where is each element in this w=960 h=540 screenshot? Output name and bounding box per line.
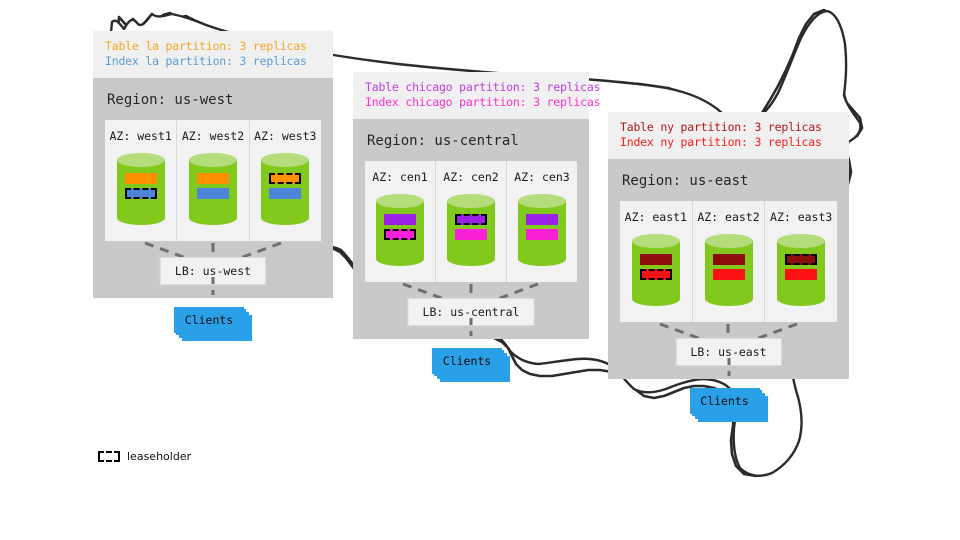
clients-box[interactable]: Clients <box>690 388 760 414</box>
database-cylinder-east1[interactable] <box>632 234 680 306</box>
clients-stack-us-east[interactable]: Clients <box>690 388 768 422</box>
az-label: AZ: west1 <box>105 129 176 143</box>
lb-clients-connector <box>724 356 734 378</box>
legend-label: leaseholder <box>127 450 191 463</box>
cylinder-top <box>632 234 680 248</box>
table-replica-bar-leaseholder <box>785 254 817 265</box>
index-replica-bar <box>785 269 817 280</box>
index-partition-label: Index la partition: 3 replicas <box>105 54 321 69</box>
partition-header-us-west: Table la partition: 3 replicas Index la … <box>93 31 333 78</box>
table-replica-bar <box>197 173 229 184</box>
cylinder-top <box>777 234 825 248</box>
index-replica-bar <box>455 229 487 240</box>
index-replica-bar <box>269 188 301 199</box>
database-cylinder-west3[interactable] <box>261 153 309 225</box>
cylinder-top <box>189 153 237 167</box>
region-body-us-central: Region: us-central AZ: cen1 AZ: cen2 <box>353 119 589 339</box>
replica-bars <box>447 214 495 244</box>
region-title: Region: us-west <box>93 78 333 120</box>
database-cylinder-cen2[interactable] <box>447 194 495 266</box>
table-partition-label: Table chicago partition: 3 replicas <box>365 80 577 95</box>
az-label: AZ: cen1 <box>365 170 435 184</box>
replica-bars <box>777 254 825 284</box>
replica-bars <box>261 173 309 203</box>
region-title: Region: us-east <box>608 159 849 201</box>
replica-bars <box>117 173 165 203</box>
lb-clients-connector <box>466 316 476 338</box>
table-replica-bar <box>640 254 672 265</box>
partition-header-us-central: Table chicago partition: 3 replicas Inde… <box>353 72 589 119</box>
replica-bars <box>189 173 237 203</box>
replica-bars <box>376 214 424 244</box>
table-replica-bar-leaseholder <box>269 173 301 184</box>
az-cell-west1[interactable]: AZ: west1 <box>105 120 177 241</box>
cylinder-top <box>261 153 309 167</box>
replica-bars <box>705 254 753 284</box>
database-cylinder-east3[interactable] <box>777 234 825 306</box>
az-row: AZ: west1 AZ: west2 <box>105 120 321 241</box>
replica-bars <box>632 254 680 284</box>
index-replica-bar-leaseholder <box>125 188 157 199</box>
clients-box[interactable]: Clients <box>432 348 502 374</box>
region-body-us-east: Region: us-east AZ: east1 AZ: east2 <box>608 159 849 379</box>
region-title: Region: us-central <box>353 119 589 161</box>
az-label: AZ: west3 <box>250 129 321 143</box>
az-cell-cen1[interactable]: AZ: cen1 <box>365 161 436 282</box>
clients-box[interactable]: Clients <box>174 307 244 333</box>
lb-clients-connector <box>208 275 218 297</box>
cylinder-top <box>518 194 566 208</box>
cylinder-top <box>447 194 495 208</box>
az-label: AZ: east2 <box>693 210 765 224</box>
az-row: AZ: cen1 AZ: cen2 <box>365 161 577 282</box>
table-replica-bar <box>384 214 416 225</box>
database-cylinder-cen3[interactable] <box>518 194 566 266</box>
region-panel-us-central: Table chicago partition: 3 replicas Inde… <box>353 72 589 339</box>
az-cell-cen2[interactable]: AZ: cen2 <box>436 161 507 282</box>
database-cylinder-cen1[interactable] <box>376 194 424 266</box>
az-cell-east2[interactable]: AZ: east2 <box>693 201 766 322</box>
index-partition-label: Index ny partition: 3 replicas <box>620 135 837 150</box>
az-cell-east1[interactable]: AZ: east1 <box>620 201 693 322</box>
lb-to-clients-area <box>353 316 589 336</box>
index-replica-bar-leaseholder <box>640 269 672 280</box>
index-replica-bar-leaseholder <box>384 229 416 240</box>
replica-bars <box>518 214 566 244</box>
az-cell-east3[interactable]: AZ: east3 <box>765 201 837 322</box>
legend: leaseholder <box>98 450 191 463</box>
cylinder-top <box>117 153 165 167</box>
leaseholder-swatch-icon <box>98 451 120 462</box>
database-cylinder-west2[interactable] <box>189 153 237 225</box>
az-cell-west2[interactable]: AZ: west2 <box>177 120 249 241</box>
az-cell-west3[interactable]: AZ: west3 <box>250 120 321 241</box>
region-body-us-west: Region: us-west AZ: west1 AZ: west2 <box>93 78 333 298</box>
table-replica-bar <box>713 254 745 265</box>
az-label: AZ: cen3 <box>507 170 577 184</box>
index-replica-bar <box>526 229 558 240</box>
table-replica-bar-leaseholder <box>455 214 487 225</box>
index-partition-label: Index chicago partition: 3 replicas <box>365 95 577 110</box>
az-label: AZ: east1 <box>620 210 692 224</box>
table-partition-label: Table ny partition: 3 replicas <box>620 120 837 135</box>
clients-stack-us-west[interactable]: Clients <box>174 307 252 341</box>
lb-to-clients-area <box>93 275 333 295</box>
index-replica-bar <box>713 269 745 280</box>
region-panel-us-east: Table ny partition: 3 replicas Index ny … <box>608 112 849 379</box>
az-row: AZ: east1 AZ: east2 <box>620 201 837 322</box>
table-replica-bar <box>526 214 558 225</box>
az-cell-cen3[interactable]: AZ: cen3 <box>507 161 577 282</box>
connector-area-us-central: LB: us-central <box>365 282 577 316</box>
table-partition-label: Table la partition: 3 replicas <box>105 39 321 54</box>
az-label: AZ: cen2 <box>436 170 506 184</box>
database-cylinder-west1[interactable] <box>117 153 165 225</box>
lb-to-clients-area <box>608 356 849 376</box>
cylinder-top <box>376 194 424 208</box>
connector-area-us-west: LB: us-west <box>105 241 321 275</box>
index-replica-bar <box>197 188 229 199</box>
az-label: AZ: west2 <box>177 129 248 143</box>
az-label: AZ: east3 <box>765 210 837 224</box>
partition-header-us-east: Table ny partition: 3 replicas Index ny … <box>608 112 849 159</box>
connector-area-us-east: LB: us-east <box>620 322 837 356</box>
table-replica-bar <box>125 173 157 184</box>
region-panel-us-west: Table la partition: 3 replicas Index la … <box>93 31 333 298</box>
cylinder-top <box>705 234 753 248</box>
clients-stack-us-central[interactable]: Clients <box>432 348 510 382</box>
database-cylinder-east2[interactable] <box>705 234 753 306</box>
